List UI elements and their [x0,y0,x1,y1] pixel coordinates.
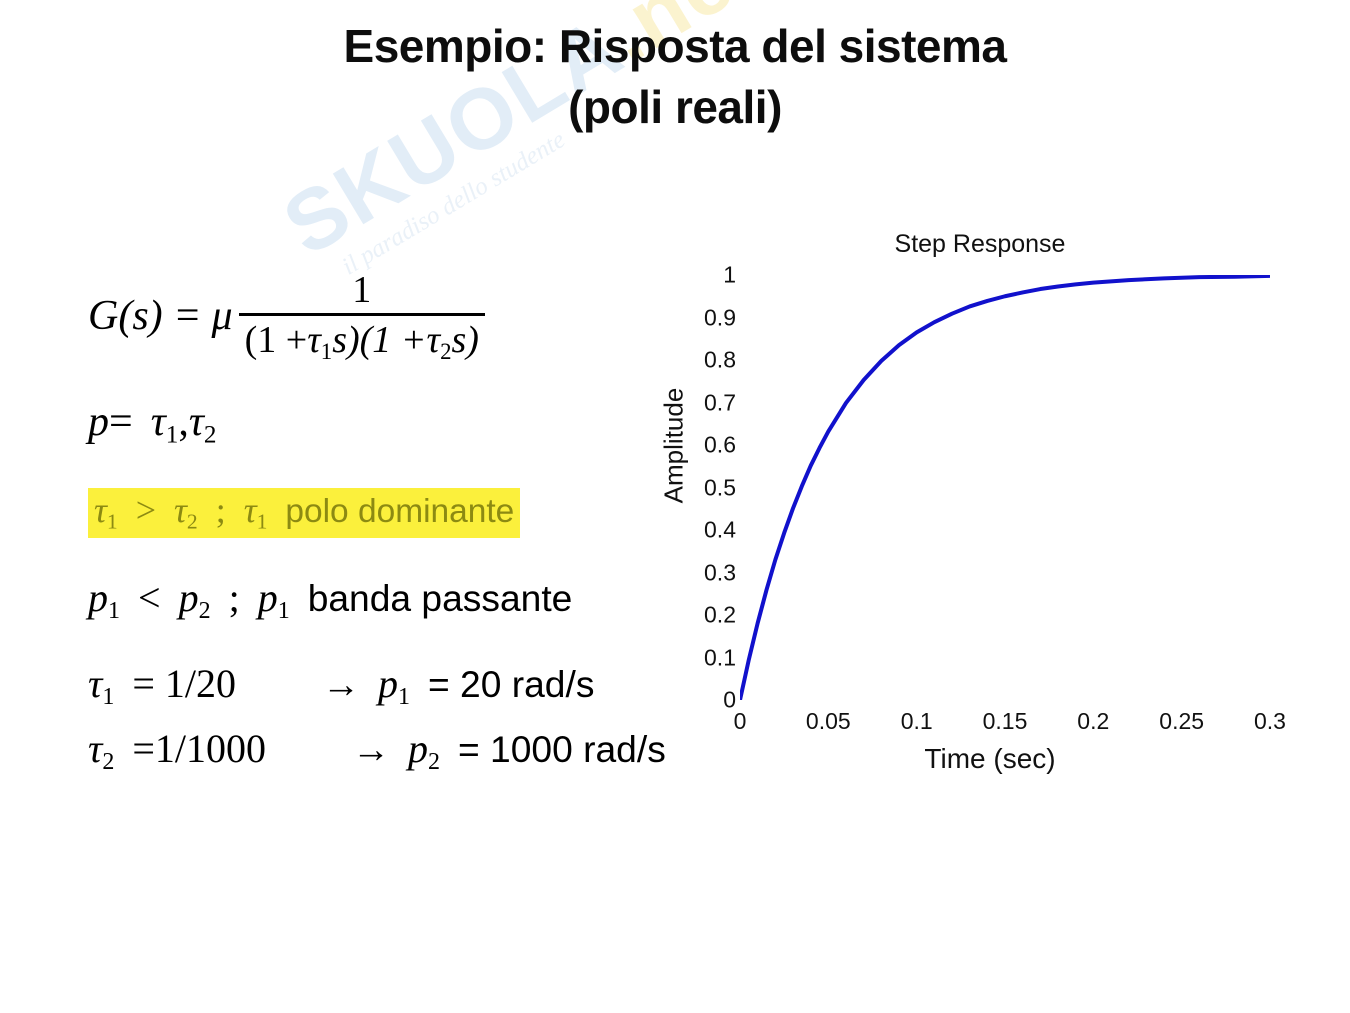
band-p-1: p [88,575,108,620]
den-tau-2: τ [426,319,440,361]
poles-eq: = [109,399,133,445]
tau2-p-sub: 2 [428,749,440,775]
den-s-1: s)(1 + [332,319,426,361]
plot-area [740,275,1270,700]
dominant-pole-highlight: τ1>τ2;τ1polo dominante [88,488,520,539]
tau1-equation-row: τ1= 1/20→p1= 20 rad/s [88,660,668,711]
dominant-pole-statement: τ1>τ2;τ1polo dominante [88,488,520,539]
tau1-sub: 1 [102,684,114,710]
tau2-symbol: τ [88,726,102,771]
band-p-2: p [179,575,199,620]
y-tick-label: 1 [666,262,736,289]
dom-tau-3: τ [244,490,257,530]
math-column: G(s) = μ 1 (1 +τ1s)(1 +τ2s) p=τ1,τ2 τ1>τ… [88,268,668,776]
page-title-line-1: Esempio: Risposta del sistema [0,16,1350,77]
x-tick-label: 0.3 [1215,708,1325,735]
transfer-function-lhs: G(s) = [88,292,202,340]
poles-p: p [88,399,109,445]
band-semicolon: ; [229,575,240,620]
slide-canvas: SKUOLA.net il paradiso dello studente Es… [0,0,1350,1013]
poles-tau-2-sub: 2 [204,422,217,449]
y-tick-label: 0.5 [666,474,736,501]
tau1-symbol: τ [88,661,102,706]
dom-semicolon: ; [216,490,226,530]
den-s-2: s) [451,319,478,361]
y-tick-label: 0.8 [666,347,736,374]
page-title: Esempio: Risposta del sistema (poli real… [0,16,1350,137]
den-tau-1-sub: 1 [321,338,332,363]
x-axis-label: Time (sec) [800,743,1180,775]
tau1-p-symbol: p [378,661,398,706]
band-p-3: p [258,575,278,620]
band-p-3-sub: 1 [278,599,290,625]
y-tick-label: 0.9 [666,304,736,331]
chart-title: Step Response [630,230,1330,259]
dom-gt: > [136,490,156,530]
x-axis-tick-labels: 00.050.10.150.20.250.3 [740,708,1270,738]
poles-tau-1-sub: 1 [166,422,179,449]
tau1-result: = 20 rad/s [428,663,594,705]
tau2-p-symbol: p [408,726,428,771]
step-response-curve [740,276,1270,700]
dom-tau-1-sub: 1 [107,509,118,533]
den-tau-2-sub: 2 [440,338,451,363]
dom-tau-1: τ [94,490,107,530]
page-title-line-2: (poli reali) [0,77,1350,138]
y-tick-label: 0.2 [666,602,736,629]
step-response-chart: Step Response Amplitude 10.90.80.70.60.5… [630,225,1330,795]
den-tau-1: τ [307,319,321,361]
poles-comma: , [178,399,189,445]
y-axis-tick-labels: 10.90.80.70.60.50.40.30.20.10 [658,275,736,700]
band-text: banda passante [308,577,573,619]
band-p-1-sub: 1 [108,599,120,625]
den-open-1: (1 + [245,319,308,361]
tau2-arrow-icon: → [352,729,390,771]
tau1-value: = 1/20 [132,661,236,706]
transfer-function-equation: G(s) = μ 1 (1 +τ1s)(1 +τ2s) [88,268,668,364]
y-tick-label: 0.6 [666,432,736,459]
tau1-p-sub: 1 [398,684,410,710]
fraction-denominator: (1 +τ1s)(1 +τ2s) [239,316,485,365]
band-lt: < [138,575,161,620]
dom-tau-2-sub: 2 [187,509,198,533]
band-p-2-sub: 2 [199,599,211,625]
tau1-arrow-icon: → [322,664,360,706]
plot-svg [740,275,1270,700]
poles-tau-1: τ [151,399,166,445]
tau2-value: =1/1000 [132,726,266,771]
y-tick-label: 0.7 [666,389,736,416]
dom-text: polo dominante [285,493,514,530]
tau2-equation-row: τ2=1/1000→p2= 1000 rad/s [88,725,668,776]
y-tick-label: 0.3 [666,559,736,586]
y-tick-label: 0.1 [666,644,736,671]
transfer-function-fraction: 1 (1 +τ1s)(1 +τ2s) [239,268,485,365]
bandwidth-statement: p1<p2;p1banda passante [88,574,668,625]
dom-tau-2: τ [174,490,187,530]
tau2-sub: 2 [102,749,114,775]
poles-tau-2: τ [189,399,204,445]
y-tick-label: 0.4 [666,517,736,544]
poles-equation: p=τ1,τ2 [88,398,668,450]
gain-symbol-mu: μ [212,292,233,340]
dom-tau-3-sub: 1 [257,509,268,533]
fraction-numerator: 1 [342,268,381,313]
